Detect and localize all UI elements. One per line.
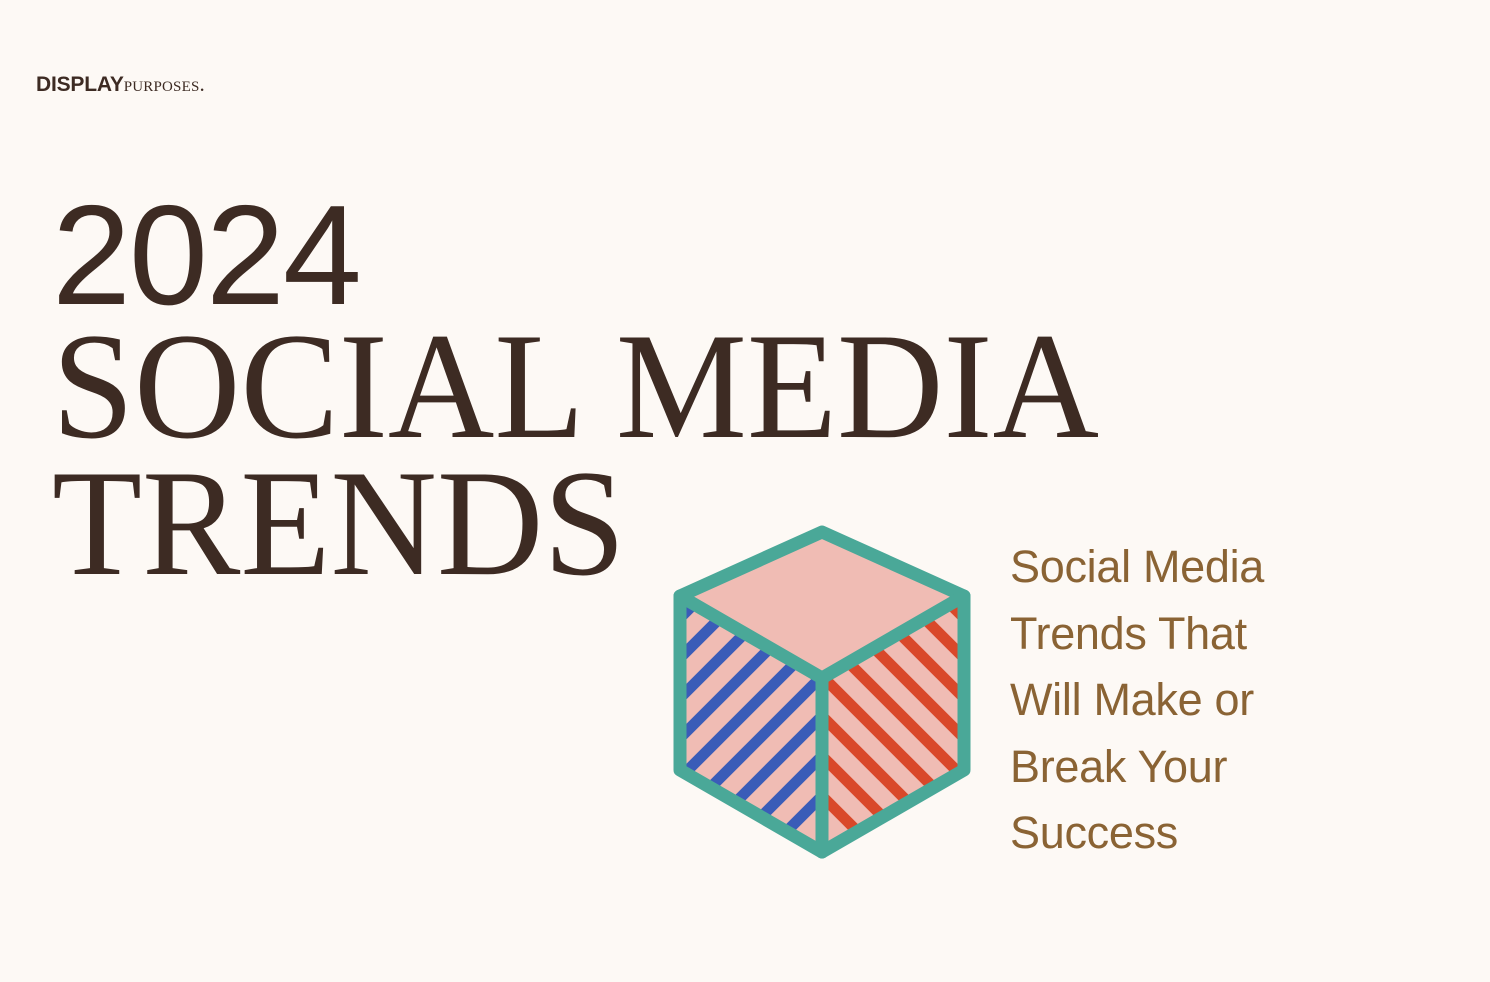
subtitle-line: Will Make or bbox=[1010, 667, 1350, 734]
brand-logo-purposes: PURPOSES. bbox=[124, 74, 205, 95]
subtitle-line: Trends That bbox=[1010, 601, 1350, 668]
headline-block: 2024 SOCIAL MEDIA TRENDS bbox=[52, 196, 1172, 589]
brand-logo[interactable]: DISPLAY PURPOSES. bbox=[36, 74, 205, 95]
brand-logo-display: DISPLAY bbox=[36, 74, 124, 95]
headline-line-1: SOCIAL MEDIA bbox=[52, 321, 1138, 452]
subtitle-line: Success bbox=[1010, 800, 1350, 867]
subtitle-line: Social Media bbox=[1010, 534, 1350, 601]
subtitle-line: Break Your bbox=[1010, 734, 1350, 801]
poster-canvas: DISPLAY PURPOSES. 2024 SOCIAL MEDIA TREN… bbox=[0, 0, 1490, 982]
isometric-cube-illustration bbox=[668, 520, 976, 876]
subtitle-block: Social Media Trends That Will Make or Br… bbox=[1010, 534, 1350, 867]
headline-year: 2024 bbox=[52, 196, 1172, 315]
